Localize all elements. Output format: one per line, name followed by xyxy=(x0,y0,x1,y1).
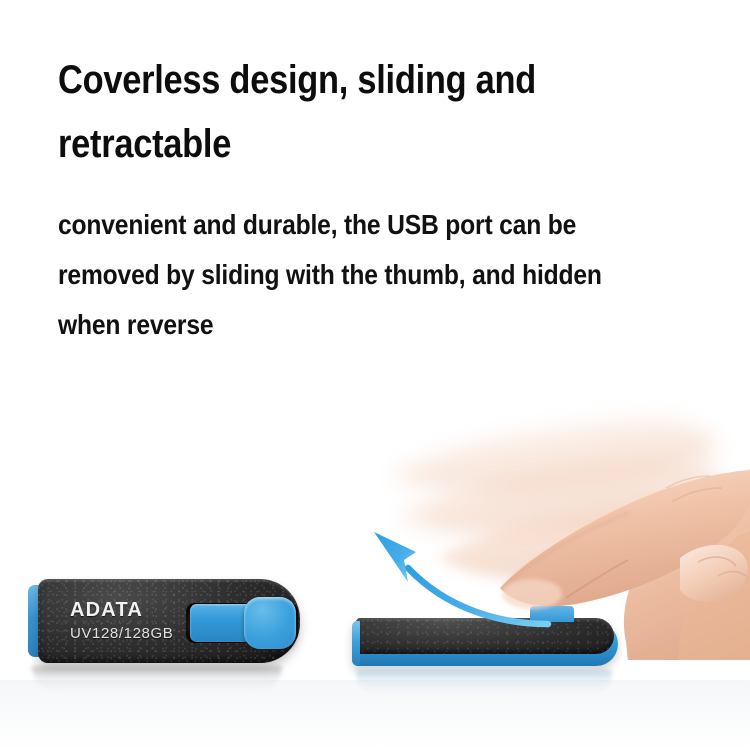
usb-drive-extended: ADATA UV128/128GB xyxy=(28,577,300,665)
model-label: UV128/128GB xyxy=(70,625,173,642)
marketing-copy-block: Coverless design, sliding and retractabl… xyxy=(58,48,718,350)
slider-thumb xyxy=(244,597,296,649)
product-photo-stage: ADATA UV128/128GB xyxy=(0,380,750,750)
slide-direction-arrow xyxy=(352,510,552,640)
brand-label: ADATA xyxy=(70,599,143,622)
page-subtitle: convenient and durable, the USB port can… xyxy=(58,200,639,350)
drive-extended-reflection xyxy=(32,666,282,692)
arrow-icon xyxy=(352,510,552,640)
drive-body: ADATA UV128/128GB xyxy=(38,579,300,663)
page-title: Coverless design, sliding and retractabl… xyxy=(58,48,626,176)
drive-retracted-reflection xyxy=(356,670,612,694)
product-promo-image: Coverless design, sliding and retractabl… xyxy=(0,0,750,750)
